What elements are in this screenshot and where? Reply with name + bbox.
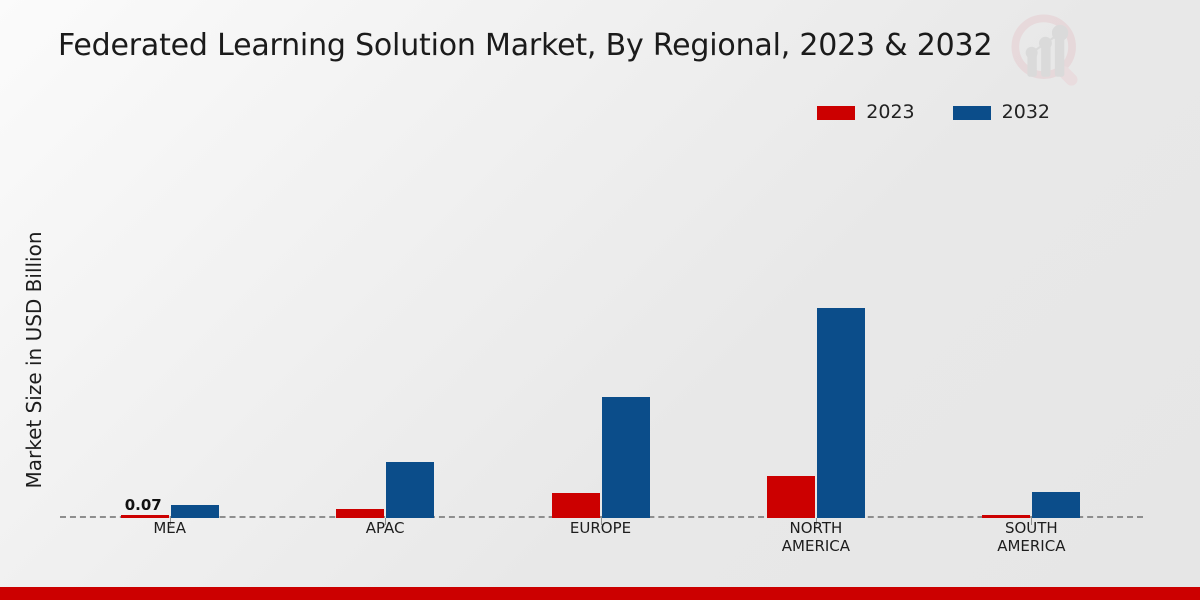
bar-2023-europe[interactable] — [552, 493, 600, 518]
bar-group-north-america — [708, 140, 923, 518]
category-label-europe: EUROPE — [493, 520, 708, 555]
bar-group-apac — [277, 140, 492, 518]
category-label-apac: APAC — [277, 520, 492, 555]
bar-2032-north-america[interactable] — [817, 308, 865, 518]
legend-item-2023[interactable]: 2023 — [817, 103, 914, 122]
category-label-mea: MEA — [62, 520, 277, 555]
plot-area: Market Size in USD Billion 0.07 — [48, 140, 1153, 518]
category-label-south-america: SOUTH AMERICA — [924, 520, 1139, 555]
page-title: Federated Learning Solution Market, By R… — [58, 28, 992, 63]
legend-swatch-2023 — [817, 106, 855, 120]
legend-label-2023: 2023 — [866, 103, 914, 122]
legend-swatch-2032 — [953, 106, 991, 120]
bar-2023-south-america[interactable] — [982, 515, 1030, 518]
legend-label-2032: 2032 — [1002, 103, 1050, 122]
bar-group-europe — [493, 140, 708, 518]
bar-2032-mea[interactable] — [171, 505, 219, 518]
y-axis-title: Market Size in USD Billion — [22, 200, 48, 520]
bar-group-mea: 0.07 — [62, 140, 277, 518]
bar-value-label-mea: 0.07 — [125, 496, 162, 514]
bar-2023-apac[interactable] — [336, 509, 384, 518]
bar-2023-mea[interactable]: 0.07 — [121, 515, 169, 518]
footer-accent-bar — [0, 587, 1200, 600]
x-axis-category-labels: MEA APAC EUROPE NORTH AMERICA SOUTH AMER… — [48, 520, 1153, 555]
bar-2032-europe[interactable] — [602, 397, 650, 518]
bar-series-container: 0.07 — [48, 140, 1153, 518]
bar-2032-apac[interactable] — [386, 462, 434, 518]
bar-group-south-america — [924, 140, 1139, 518]
bar-2023-north-america[interactable] — [767, 476, 815, 518]
watermark-logo — [1005, 8, 1091, 94]
legend-item-2032[interactable]: 2032 — [953, 103, 1050, 122]
chart-legend: 2023 2032 — [817, 103, 1050, 122]
category-label-north-america: NORTH AMERICA — [708, 520, 923, 555]
bar-2032-south-america[interactable] — [1032, 492, 1080, 518]
